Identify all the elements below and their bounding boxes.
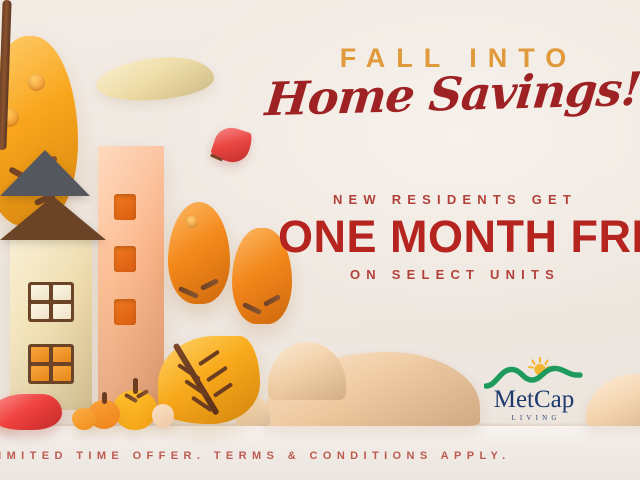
peach-house-window	[114, 246, 136, 272]
offer-headline: ONE MONTH FREE	[278, 214, 640, 259]
cream-house-roof	[0, 196, 106, 240]
pumpkin-stem	[102, 392, 107, 404]
red-clay-slab	[0, 394, 62, 430]
tree-dot-icon	[186, 216, 198, 228]
peach-house-roof	[0, 150, 90, 196]
offer-eyebrow: NEW RESIDENTS GET	[252, 192, 640, 207]
pumpkin-stem	[133, 378, 138, 394]
metcap-logo: MetCap LIVING	[478, 356, 590, 422]
metcap-wordmark: MetCap	[478, 387, 590, 412]
pumpkin-small	[72, 408, 96, 430]
tree-dot-icon	[28, 74, 45, 91]
metcap-tagline: LIVING	[478, 414, 590, 422]
offer-block: NEW RESIDENTS GET ONE MONTH FREE ON SELE…	[252, 192, 640, 282]
offer-subtext: ON SELECT UNITS	[252, 267, 640, 282]
peach-house-window	[114, 194, 136, 220]
pumpkin-pale	[152, 404, 174, 428]
peach-house-body	[98, 146, 164, 408]
headline-script: Home Savings!	[255, 65, 640, 126]
metcap-hills-sun-icon	[484, 356, 584, 390]
peach-house-window	[114, 299, 136, 325]
disclaimer-text: LIMITED TIME OFFER. TERMS & CONDITIONS A…	[0, 450, 466, 462]
cream-house-window-upper	[28, 282, 74, 322]
promotional-banner: FALL INTO Home Savings! NEW RESIDENTS GE…	[0, 0, 640, 480]
headline-block: FALL INTO Home Savings!	[258, 44, 640, 120]
cream-house-window-lower	[28, 344, 74, 384]
